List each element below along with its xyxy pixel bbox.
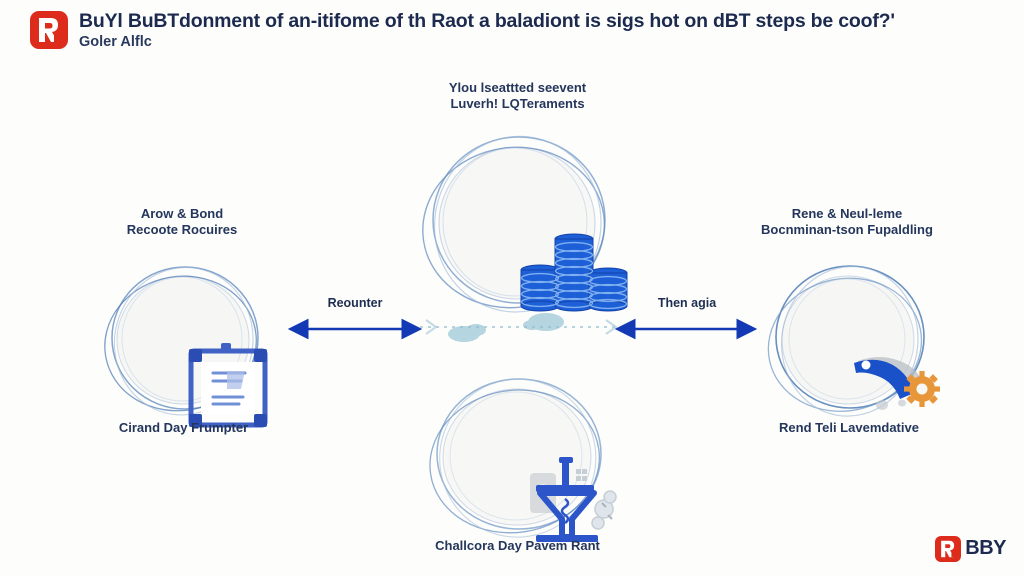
node-right-label-bottom: Rend Teli Lavemdative	[740, 420, 958, 436]
page-title: BuYl BuBTdonment of an-itifome of th Rao…	[79, 11, 895, 32]
connector-smudge	[448, 313, 564, 342]
left-connector-arrow	[285, 318, 425, 340]
node-center-top[interactable]: Ylou lseattted seevent Luverh! LQTeramen…	[415, 128, 620, 318]
diagram-canvas: BuYl BuBTdonment of an-itifome of th Rao…	[0, 0, 1024, 576]
node-center-top-label-top: Ylou lseattted seevent Luverh! LQTeramen…	[395, 80, 640, 112]
r-badge-logo-icon	[30, 11, 68, 49]
node-center-bottom-circle	[420, 372, 615, 542]
swoosh-gear-glyph	[848, 341, 952, 417]
watermark: BBY	[935, 535, 1006, 562]
r-badge-logo-glyph	[30, 11, 68, 49]
node-right-label-top: Rene & Neul-leme Bocnminan-tson Fupaldli…	[707, 206, 987, 238]
document-frame-glyph	[183, 341, 273, 433]
r-badge-logo-icon	[935, 536, 961, 562]
node-center-bottom[interactable]: Challcora Day Pavem Rant	[420, 372, 615, 542]
header-text: BuYl BuBTdonment of an-itifome of th Rao…	[79, 10, 895, 51]
right-connector-label: Then agia	[612, 296, 762, 310]
node-center-top-circle	[415, 128, 620, 318]
header: BuYl BuBTdonment of an-itifome of th Rao…	[0, 0, 1024, 58]
node-left[interactable]: Arow & Bond Recoote Rocuires	[97, 258, 269, 423]
left-connector-label: Reounter	[285, 296, 425, 310]
left-connector: Reounter	[285, 296, 425, 340]
node-left-label-bottom: Cirand Day Frumpter	[81, 420, 286, 436]
right-connector: Then agia	[612, 296, 762, 340]
center-connector-dotted	[420, 310, 620, 344]
right-connector-arrow	[612, 318, 762, 340]
node-center-bottom-label-bottom: Challcora Day Pavem Rant	[410, 538, 625, 554]
node-right[interactable]: Rene & Neul-leme Bocnminan-tson Fupaldli…	[762, 258, 934, 423]
page-subtitle: Goler Alflc	[79, 33, 895, 51]
node-left-circle	[97, 258, 269, 423]
center-connector	[420, 310, 620, 344]
node-left-label-top: Arow & Bond Recoote Rocuires	[82, 206, 282, 238]
node-right-circle	[762, 258, 934, 423]
watermark-text: BBY	[965, 537, 1006, 560]
r-badge-logo-glyph	[935, 536, 961, 562]
